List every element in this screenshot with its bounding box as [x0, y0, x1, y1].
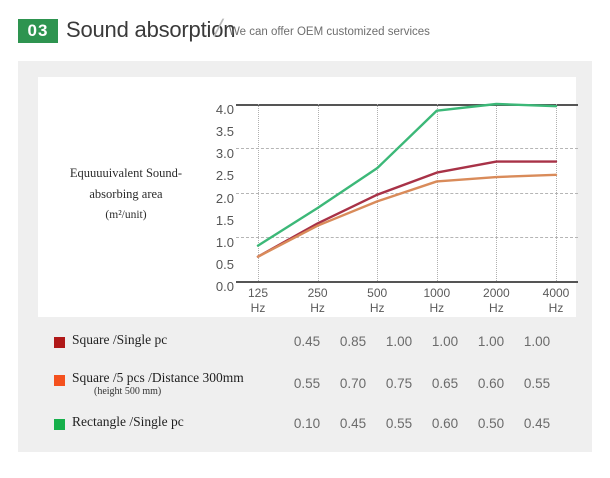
- y-axis-tick: 0.5: [200, 259, 234, 271]
- x-axis-tick-unit: Hz: [407, 301, 467, 316]
- table-value-group: 0.550.700.750.650.600.55: [284, 365, 576, 405]
- table-cell: 1.00: [514, 334, 560, 349]
- table-cell: 0.45: [330, 416, 376, 431]
- legend-label: Square /Single pc: [72, 332, 167, 348]
- y-axis-label-line-1: Equuuuivalent Sound-: [46, 163, 206, 184]
- page-header: 03 Sound absorption / We can offer OEM c…: [0, 0, 610, 60]
- y-axis-tick: 1.0: [200, 237, 234, 249]
- legend-swatch-icon: [54, 337, 65, 348]
- page-title: Sound absorption: [66, 17, 235, 43]
- table-cell: 1.00: [422, 334, 468, 349]
- table-cell: 0.45: [514, 416, 560, 431]
- x-axis-tick-value: 250: [308, 286, 328, 300]
- series-line-2: [258, 104, 556, 246]
- x-axis-tick-unit: Hz: [228, 301, 288, 316]
- table-cell: 0.55: [514, 376, 560, 391]
- legend-data-table: Square /Single pc0.450.851.001.001.001.0…: [38, 323, 576, 443]
- x-axis-tick: 1000Hz: [407, 286, 467, 316]
- table-cell: 0.10: [284, 416, 330, 431]
- x-axis-tick-value: 4000: [543, 286, 570, 300]
- table-cell: 1.00: [376, 334, 422, 349]
- table-row[interactable]: Rectangle /Single pc0.100.450.550.600.50…: [38, 407, 576, 443]
- x-axis-tick-labels: 125Hz250Hz500Hz1000Hz2000Hz4000Hz: [236, 286, 578, 320]
- table-cell: 0.70: [330, 376, 376, 391]
- x-axis-tick-unit: Hz: [526, 301, 586, 316]
- axis-bottom-line: [236, 281, 578, 283]
- legend-swatch-icon: [54, 375, 65, 386]
- table-cell: 0.65: [422, 376, 468, 391]
- y-axis-tick: 1.5: [200, 215, 234, 227]
- y-axis-tick: 2.0: [200, 193, 234, 205]
- x-axis-tick: 125Hz: [228, 286, 288, 316]
- table-cell: 0.55: [284, 376, 330, 391]
- series-line-1: [258, 175, 556, 257]
- table-cell: 1.00: [468, 334, 514, 349]
- y-axis-tick-labels: 4.03.53.02.52.01.51.00.50.0: [198, 97, 234, 289]
- x-axis-tick-value: 2000: [483, 286, 510, 300]
- table-cell: 0.55: [376, 416, 422, 431]
- legend-label: Square /5 pcs /Distance 300mm: [72, 370, 244, 386]
- table-value-group: 0.450.851.001.001.001.00: [284, 323, 576, 363]
- x-axis-tick-value: 1000: [423, 286, 450, 300]
- x-axis-tick-value: 500: [367, 286, 387, 300]
- y-axis-tick: 2.5: [200, 170, 234, 182]
- x-axis-tick-unit: Hz: [288, 301, 348, 316]
- legend-label: Rectangle /Single pc: [72, 414, 184, 430]
- y-axis-label-line-2: absorbing area: [46, 184, 206, 205]
- series-lines: [236, 104, 578, 281]
- table-cell: 0.60: [422, 416, 468, 431]
- x-axis-tick-value: 125: [248, 286, 268, 300]
- y-axis-label-unit: (m²/unit): [46, 205, 206, 226]
- table-cell: 0.75: [376, 376, 422, 391]
- table-cell: 0.50: [468, 416, 514, 431]
- x-axis-tick: 4000Hz: [526, 286, 586, 316]
- table-row[interactable]: Square /5 pcs /Distance 300mm(height 500…: [38, 365, 576, 405]
- table-cell: 0.45: [284, 334, 330, 349]
- y-axis-tick: 3.0: [200, 148, 234, 160]
- x-axis-tick: 2000Hz: [466, 286, 526, 316]
- plot-area: [236, 104, 578, 281]
- page-subtitle: We can offer OEM customized services: [229, 26, 430, 38]
- section-number-badge: 03: [18, 19, 58, 43]
- x-axis-tick-unit: Hz: [347, 301, 407, 316]
- x-axis-tick: 250Hz: [288, 286, 348, 316]
- legend-swatch-icon: [54, 419, 65, 430]
- x-axis-tick-unit: Hz: [466, 301, 526, 316]
- y-axis-label: Equuuuivalent Sound- absorbing area (m²/…: [46, 163, 206, 226]
- chart-card: Equuuuivalent Sound- absorbing area (m²/…: [38, 77, 576, 317]
- table-value-group: 0.100.450.550.600.500.45: [284, 407, 576, 443]
- table-cell: 0.85: [330, 334, 376, 349]
- y-axis-tick: 4.0: [200, 104, 234, 116]
- table-cell: 0.60: [468, 376, 514, 391]
- legend-sublabel: (height 500 mm): [94, 386, 161, 397]
- content-panel: Equuuuivalent Sound- absorbing area (m²/…: [18, 61, 592, 452]
- table-row[interactable]: Square /Single pc0.450.851.001.001.001.0…: [38, 323, 576, 363]
- y-axis-tick: 3.5: [200, 126, 234, 138]
- x-axis-tick: 500Hz: [347, 286, 407, 316]
